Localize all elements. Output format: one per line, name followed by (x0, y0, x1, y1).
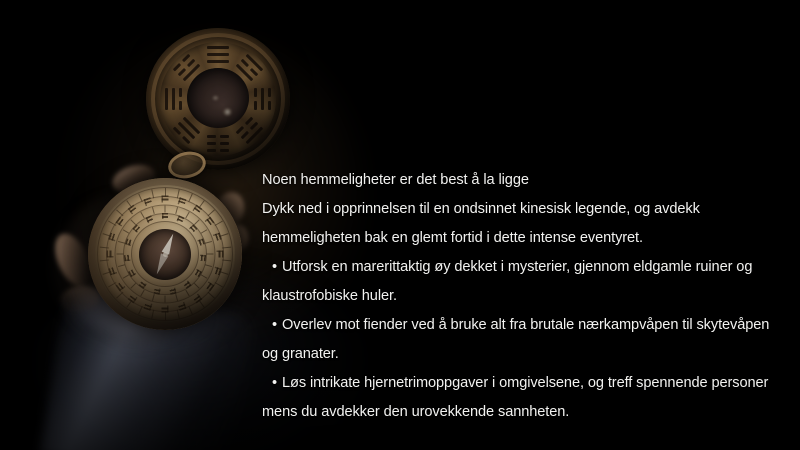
feature-label: Utforsk en marerittaktig øy dekket i mys… (262, 259, 752, 304)
feature-item: •Utforsk en marerittaktig øy dekket i my… (262, 253, 776, 311)
game-description-text: Noen hemmeligheter er det best å la ligg… (262, 166, 776, 427)
feature-label: Løs intrikate hjernetrimoppgaver i omgiv… (262, 375, 768, 420)
bullet-icon: • (272, 369, 282, 398)
bagua-trigram-lid (146, 28, 290, 170)
feature-label: Overlev mot fiender ved å bruke alt fra … (262, 317, 769, 362)
tagline: Noen hemmeligheter er det best å la ligg… (262, 166, 776, 195)
game-description-screen: Noen hemmeligheter er det best å la ligg… (0, 0, 800, 450)
dial-outer-case (88, 178, 242, 330)
feature-item: •Løs intrikate hjernetrimoppgaver i omgi… (262, 369, 776, 427)
feature-item: •Overlev mot fiender ved å bruke alt fra… (262, 311, 776, 369)
lid-rim (151, 33, 285, 165)
bullet-icon: • (272, 311, 282, 340)
bullet-icon: • (272, 253, 282, 282)
description-body: Dykk ned i opprinnelsen til en ondsinnet… (262, 195, 776, 253)
luopan-compass-dial (88, 178, 242, 330)
